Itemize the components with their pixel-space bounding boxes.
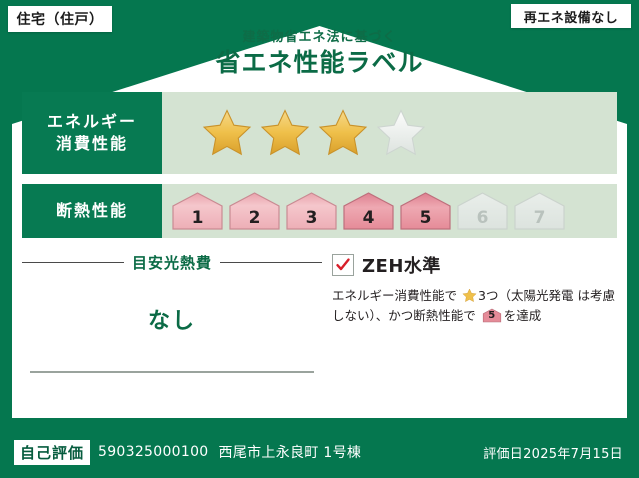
- inline-insulation-badge: 5: [482, 308, 502, 323]
- utility-cost-section: 目安光熱費 なし: [22, 246, 322, 406]
- insulation-badge-1: 1: [170, 190, 225, 232]
- zeh-section: ZEH水準 エネルギー消費性能で 3つ（太陽光発電 は考慮しない）、かつ断熱性能…: [322, 246, 617, 406]
- insulation-badge-scale: 1 2 3: [170, 190, 567, 232]
- check-icon: [335, 257, 351, 273]
- insulation-badge-3-value: 3: [306, 208, 318, 232]
- star-icon-filled-2: [258, 107, 312, 159]
- insulation-badge-5: 5: [398, 190, 453, 232]
- insulation-badge-3: 3: [284, 190, 339, 232]
- insulation-performance-value: 1 2 3: [162, 184, 617, 238]
- building-type-tag: 住宅（住戸）: [8, 6, 112, 32]
- zeh-description: エネルギー消費性能で 3つ（太陽光発電 は考慮しない）、かつ断熱性能で 5 を達…: [332, 286, 617, 326]
- insulation-badge-6: 6: [455, 190, 510, 232]
- utility-cost-value: なし: [22, 303, 322, 335]
- zeh-checkbox[interactable]: [332, 254, 354, 276]
- insulation-badge-7: 7: [512, 190, 567, 232]
- zeh-desc-line1-part1: エネルギー消費性能で: [332, 288, 457, 303]
- insulation-badge-7-value: 7: [534, 208, 546, 232]
- label-card: エネルギー 消費性能: [22, 92, 617, 410]
- insulation-badge-4-value: 4: [363, 208, 375, 232]
- insulation-badge-5-value: 5: [420, 208, 432, 232]
- insulation-badge-2-value: 2: [249, 208, 261, 232]
- property-address: 西尾市上永良町 1号棟: [219, 442, 362, 462]
- cost-heading-rule-left: [22, 262, 124, 263]
- renewable-equipment-tag: 再エネ設備なし: [511, 4, 631, 28]
- zeh-desc-line1-part2: 3つ（太陽光発電: [478, 288, 573, 303]
- star-icon-filled-3: [316, 107, 370, 159]
- insulation-badge-6-value: 6: [477, 208, 489, 232]
- inline-star-icon: [462, 288, 477, 303]
- energy-performance-label-line1: エネルギー: [47, 111, 137, 133]
- insulation-badge-2: 2: [227, 190, 282, 232]
- star-icon-empty-4: [374, 107, 428, 159]
- insulation-performance-row: 断熱性能 1: [22, 184, 617, 238]
- insulation-badge-1-value: 1: [192, 208, 204, 232]
- energy-performance-label-line2: 消費性能: [56, 133, 128, 155]
- insulation-badge-4: 4: [341, 190, 396, 232]
- inline-insulation-badge-value: 5: [482, 308, 502, 323]
- label-footer: 自己評価 590325000100 西尾市上永良町 1号棟 評価日2025年7月…: [0, 426, 639, 478]
- energy-performance-row: エネルギー 消費性能: [22, 92, 617, 174]
- lower-section: 目安光熱費 なし ZEH水準 エネルギー消費性能で: [22, 246, 617, 406]
- cost-bottom-divider: [30, 371, 314, 373]
- building-type-label: 住宅（住戸）: [17, 9, 104, 29]
- footer-left-group: 自己評価 590325000100 西尾市上永良町 1号棟: [14, 440, 361, 465]
- utility-cost-heading-text: 目安光熱費: [124, 252, 220, 273]
- star-rating: [200, 107, 428, 159]
- zeh-heading: ZEH水準: [332, 252, 617, 278]
- evaluation-date: 評価日2025年7月15日: [483, 443, 623, 462]
- energy-performance-value: [162, 92, 617, 174]
- cost-heading-rule-right: [220, 262, 322, 263]
- utility-cost-heading: 目安光熱費: [22, 252, 322, 273]
- star-icon-filled-1: [200, 107, 254, 159]
- zeh-title: ZEH水準: [362, 252, 441, 278]
- insulation-performance-label: 断熱性能: [22, 184, 162, 238]
- certificate-id: 590325000100: [98, 444, 209, 460]
- energy-performance-label: エネルギー 消費性能: [22, 92, 162, 174]
- zeh-desc-line2-part2: を達成: [504, 308, 542, 323]
- energy-label-root: 住宅（住戸） 再エネ設備なし 建築物省エネ法に基づく 省エネ性能ラベル エネルギ…: [0, 0, 639, 478]
- renewable-equipment-label: 再エネ設備なし: [524, 7, 619, 26]
- self-evaluation-badge: 自己評価: [14, 440, 90, 465]
- insulation-performance-label-text: 断熱性能: [56, 200, 128, 222]
